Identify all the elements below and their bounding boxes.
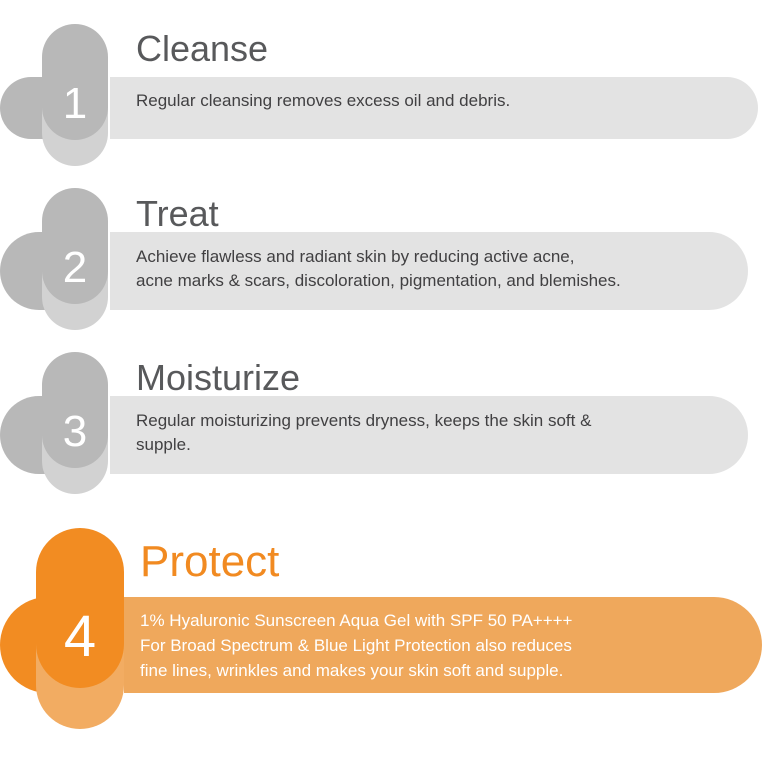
skincare-routine-infographic: 1 Cleanse Regular cleansing removes exce… bbox=[0, 0, 768, 768]
step-4-body: 1% Hyaluronic Sunscreen Aqua Gel with SP… bbox=[140, 608, 573, 683]
step-4-heading: Protect bbox=[140, 540, 279, 584]
step-1-number: 1 bbox=[42, 82, 108, 126]
step-3-number: 3 bbox=[42, 410, 108, 454]
step-4-number: 4 bbox=[36, 608, 124, 666]
step-1-heading: Cleanse bbox=[136, 31, 268, 67]
step-3-body: Regular moisturizing prevents dryness, k… bbox=[136, 409, 591, 457]
step-1-body: Regular cleansing removes excess oil and… bbox=[136, 89, 510, 113]
step-2-number: 2 bbox=[42, 246, 108, 290]
step-2-body: Achieve flawless and radiant skin by red… bbox=[136, 245, 621, 293]
step-3-heading: Moisturize bbox=[136, 360, 300, 396]
step-2-heading: Treat bbox=[136, 196, 219, 232]
